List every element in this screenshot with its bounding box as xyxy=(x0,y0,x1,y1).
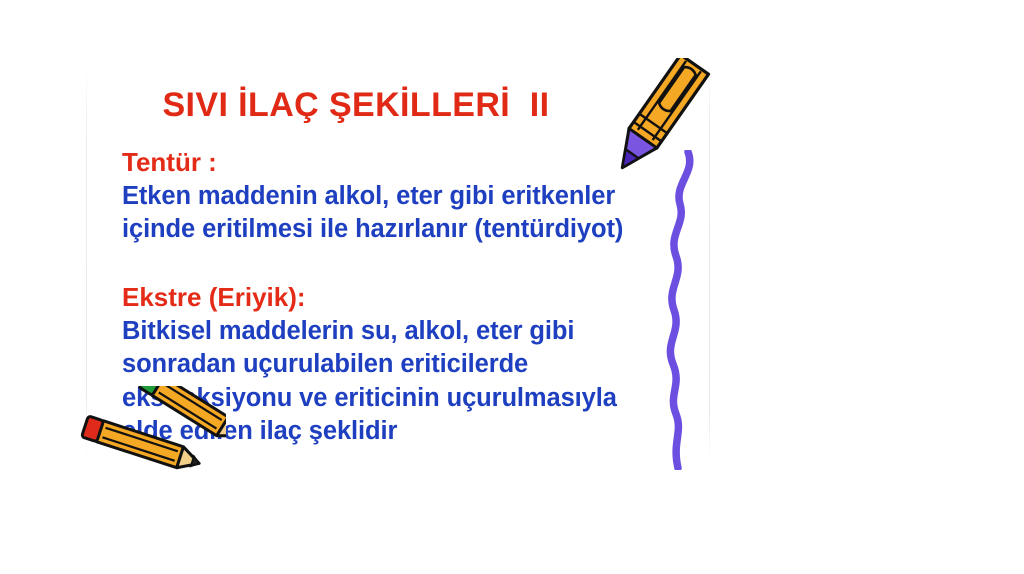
section-tentur-body: Etken maddenin alkol, eter gibi eritkenl… xyxy=(122,180,702,247)
section-ekstre: Ekstre (Eriyik): Bitkisel maddelerin su,… xyxy=(122,281,702,449)
slide-title: SIVI İLAÇ ŞEKİLLERİ II xyxy=(86,88,626,124)
slide-canvas: SIVI İLAÇ ŞEKİLLERİ II Tentür : Etken ma… xyxy=(0,0,1024,574)
slide-frame-left-border xyxy=(86,66,87,462)
section-ekstre-heading: Ekstre (Eriyik): xyxy=(122,281,702,314)
section-tentur: Tentür : Etken maddenin alkol, eter gibi… xyxy=(122,146,702,247)
section-ekstre-body: Bitkisel maddelerin su, alkol, eter gibi… xyxy=(122,315,702,450)
slide-frame-right-border xyxy=(709,66,710,462)
section-tentur-heading: Tentür : xyxy=(122,146,702,179)
